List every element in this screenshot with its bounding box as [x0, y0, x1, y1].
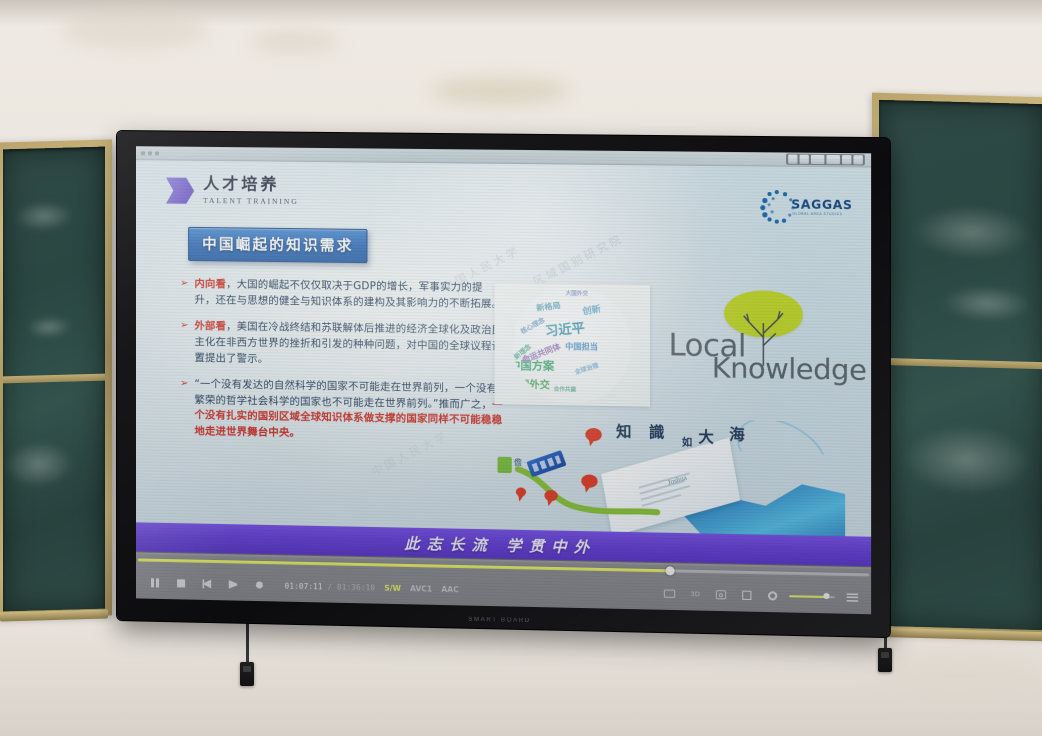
local-knowledge-line2: Knowledge	[712, 351, 867, 387]
bullet-text: 内向看，大国的崛起不仅仅取决于GDP的增长，军事实力的提升，还在与思想的健全与知…	[194, 277, 503, 313]
green-marker-icon	[498, 457, 512, 473]
previous-button[interactable]	[198, 575, 215, 592]
volume-level	[789, 595, 826, 598]
speech-bubble-icon	[544, 490, 557, 501]
display-screen[interactable]: 中国人民大学 区域国别研究院 中国人民大学 人才培养 TALENT TRAINI…	[136, 146, 871, 614]
bullet-item: ➢ “一个没有发达的自然科学的国家不可能走在世界前列，一个没有繁荣的哲学社会科学…	[180, 377, 504, 445]
3d-icon: 3D	[690, 590, 701, 598]
slide-section-banner: 中国崛起的知识需求	[188, 227, 368, 263]
hanging-cable	[246, 620, 249, 664]
stop-button[interactable]	[172, 575, 189, 592]
bullet-text: 外部看，美国在冷战终结和苏联解体后推进的经济全球化及政治民主化在非西方世界的挫折…	[194, 319, 503, 371]
word-cloud-ball: 习近平中国方案中国外交中国担当新格局创新命运共同体核心理念新理念全球治理合作共赢…	[513, 285, 632, 404]
bullet-item: ➢ 内向看，大国的崛起不仅仅取决于GDP的增长，军事实力的提升，还在与思想的健全…	[180, 277, 504, 313]
wall-mounted-smartboard[interactable]: 中国人民大学 区域国别研究院 中国人民大学 人才培养 TALENT TRAINI…	[117, 131, 890, 637]
classroom-scene: 中国人民大学 区域国别研究院 中国人民大学 人才培养 TALENT TRAINI…	[0, 0, 1042, 736]
saggas-ring-icon	[761, 190, 794, 223]
wall-stain	[880, 650, 1040, 700]
saggas-logo-name: SAGGAS	[791, 197, 852, 212]
bullet-lead: 外部看	[194, 320, 226, 332]
volume-handle[interactable]	[823, 593, 829, 599]
time-current: 01:07:11	[285, 581, 323, 591]
illustration-char: 識	[649, 421, 664, 443]
wall-stain	[250, 30, 340, 54]
menu-button[interactable]	[844, 589, 861, 606]
shape-tool-icon[interactable]	[811, 155, 824, 164]
presentation-slide: 中国人民大学 区域国别研究院 中国人民大学 人才培养 TALENT TRAINI…	[136, 160, 871, 567]
speech-bubble-icon	[581, 474, 597, 487]
menu-icon	[847, 593, 858, 601]
fullscreen-icon	[742, 591, 751, 600]
knowledge-ocean-illustration: Joshua 知 識 如 大 海	[495, 416, 845, 542]
slide-bullet-list: ➢ 内向看，大国的崛起不仅仅取决于GDP的增长，军事实力的提升，还在与思想的健全…	[180, 277, 504, 457]
illustration-char: 如	[682, 434, 692, 449]
illustration-char: 大	[698, 426, 713, 448]
wall-stain	[60, 10, 210, 50]
speech-bubble-icon	[516, 487, 526, 496]
pause-icon	[151, 578, 159, 587]
annotation-toolbar[interactable]	[786, 154, 865, 166]
word-cloud-term: 创新	[581, 302, 601, 318]
saggas-logo: SAGGAS GLOBAL AREA STUDIES	[761, 189, 848, 227]
audio-codec-badge: AAC	[441, 584, 458, 593]
display-bezel: 中国人民大学 区域国别研究院 中国人民大学 人才培养 TALENT TRAINI…	[117, 131, 890, 637]
cable-clip	[240, 662, 254, 686]
titlebar-dots	[141, 151, 159, 155]
bullet-body: “一个没有发达的自然科学的国家不可能走在世界前列，一个没有繁荣的哲学社会科学的国…	[194, 378, 497, 411]
word-cloud-image: 习近平中国方案中国外交中国担当新格局创新命运共同体核心理念新理念全球治理合作共赢…	[494, 283, 650, 407]
record-button[interactable]	[250, 576, 267, 593]
bullet-marker-icon: ➢	[180, 320, 188, 366]
previous-icon	[202, 579, 211, 588]
titlebar-dot	[155, 151, 159, 155]
pause-button[interactable]	[146, 574, 163, 591]
header-arrow-icon	[166, 178, 194, 204]
settings-button[interactable]	[764, 588, 781, 605]
bullet-marker-icon: ➢	[180, 378, 188, 440]
slide-header: 人才培养 TALENT TRAINING	[166, 175, 299, 206]
slide-header-title-en: TALENT TRAINING	[203, 196, 299, 206]
close-tool-icon[interactable]	[853, 155, 862, 164]
wall-stain	[430, 78, 570, 104]
stop-icon	[177, 579, 185, 587]
word-cloud-term: 习近平	[544, 317, 586, 340]
control-row-spacer	[459, 589, 652, 593]
bullet-body: ，大国的崛起不仅仅取决于GDP的增长，军事实力的提升，还在与思想的健全与知识体系…	[194, 278, 502, 310]
eraser-tool-icon[interactable]	[800, 155, 809, 164]
track-button[interactable]	[661, 585, 677, 602]
seek-handle[interactable]	[666, 566, 675, 575]
titlebar-dot	[148, 151, 152, 155]
word-cloud-term: 全球治理	[573, 360, 599, 376]
titlebar-dot	[141, 151, 145, 155]
video-codec-badge: AVC1	[410, 584, 432, 594]
record-icon	[255, 581, 262, 588]
snapshot-icon	[716, 590, 726, 599]
bullet-marker-icon: ➢	[180, 278, 188, 308]
slide-watermark: 区域国别研究院	[530, 230, 626, 290]
gear-icon	[768, 591, 777, 600]
select-tool-icon[interactable]	[826, 155, 839, 164]
illustration-char: 海	[729, 423, 744, 445]
time-separator: /	[323, 582, 337, 591]
chalkboard-right	[872, 93, 1042, 638]
bullet-item: ➢ 外部看，美国在冷战终结和苏联解体后推进的经济全球化及政治民主化在非西方世界的…	[180, 319, 504, 371]
snapshot-button[interactable]	[713, 586, 729, 603]
bullet-lead: 内向看	[194, 278, 226, 290]
time-display: 01:07:11 / 01:36:10	[285, 581, 376, 592]
cable-clip	[878, 648, 892, 672]
fullscreen-button[interactable]	[739, 587, 756, 604]
slide-footer-calligraphy: 此志长流 学贯中外	[404, 532, 596, 557]
word-cloud-term: 核心理念	[518, 315, 546, 337]
volume-slider[interactable]	[789, 594, 835, 599]
sw-decode-badge: S/W	[384, 583, 401, 592]
pen-tool-icon[interactable]	[788, 155, 797, 164]
word-cloud-term: 合作共赢	[554, 385, 577, 393]
next-button[interactable]	[224, 576, 241, 593]
bullet-body: ，美国在冷战终结和苏联解体后推进的经济全球化及政治民主化在非西方世界的挫折和引发…	[194, 321, 502, 365]
more-tool-icon[interactable]	[842, 155, 851, 164]
local-knowledge-logo: Local Knowledge	[666, 287, 847, 391]
three-d-button[interactable]: 3D	[687, 586, 703, 603]
saggas-logo-subtitle: GLOBAL AREA STUDIES	[792, 212, 842, 217]
slide-section-banner-text: 中国崛起的知识需求	[202, 237, 353, 255]
display-brand-label: SMART BOARD	[468, 617, 531, 624]
word-cloud-term: 新格局	[535, 300, 561, 314]
illustration-char: 知	[616, 420, 631, 442]
word-cloud-term: 中国担当	[565, 341, 598, 353]
time-total: 01:36:10	[337, 582, 375, 592]
word-cloud-term: 大国外交	[566, 289, 589, 297]
next-icon	[228, 580, 237, 589]
track-icon	[664, 589, 675, 597]
illustration-small-note: 儋ᆢ	[514, 457, 530, 468]
speech-bubble-icon	[585, 428, 601, 441]
slide-header-title-cn: 人才培养	[203, 175, 299, 194]
chalkboard-left	[0, 139, 112, 618]
word-cloud-term: 中国外交	[513, 376, 550, 392]
bullet-text: “一个没有发达的自然科学的国家不可能走在世界前列，一个没有繁荣的哲学社会科学的国…	[194, 377, 503, 445]
